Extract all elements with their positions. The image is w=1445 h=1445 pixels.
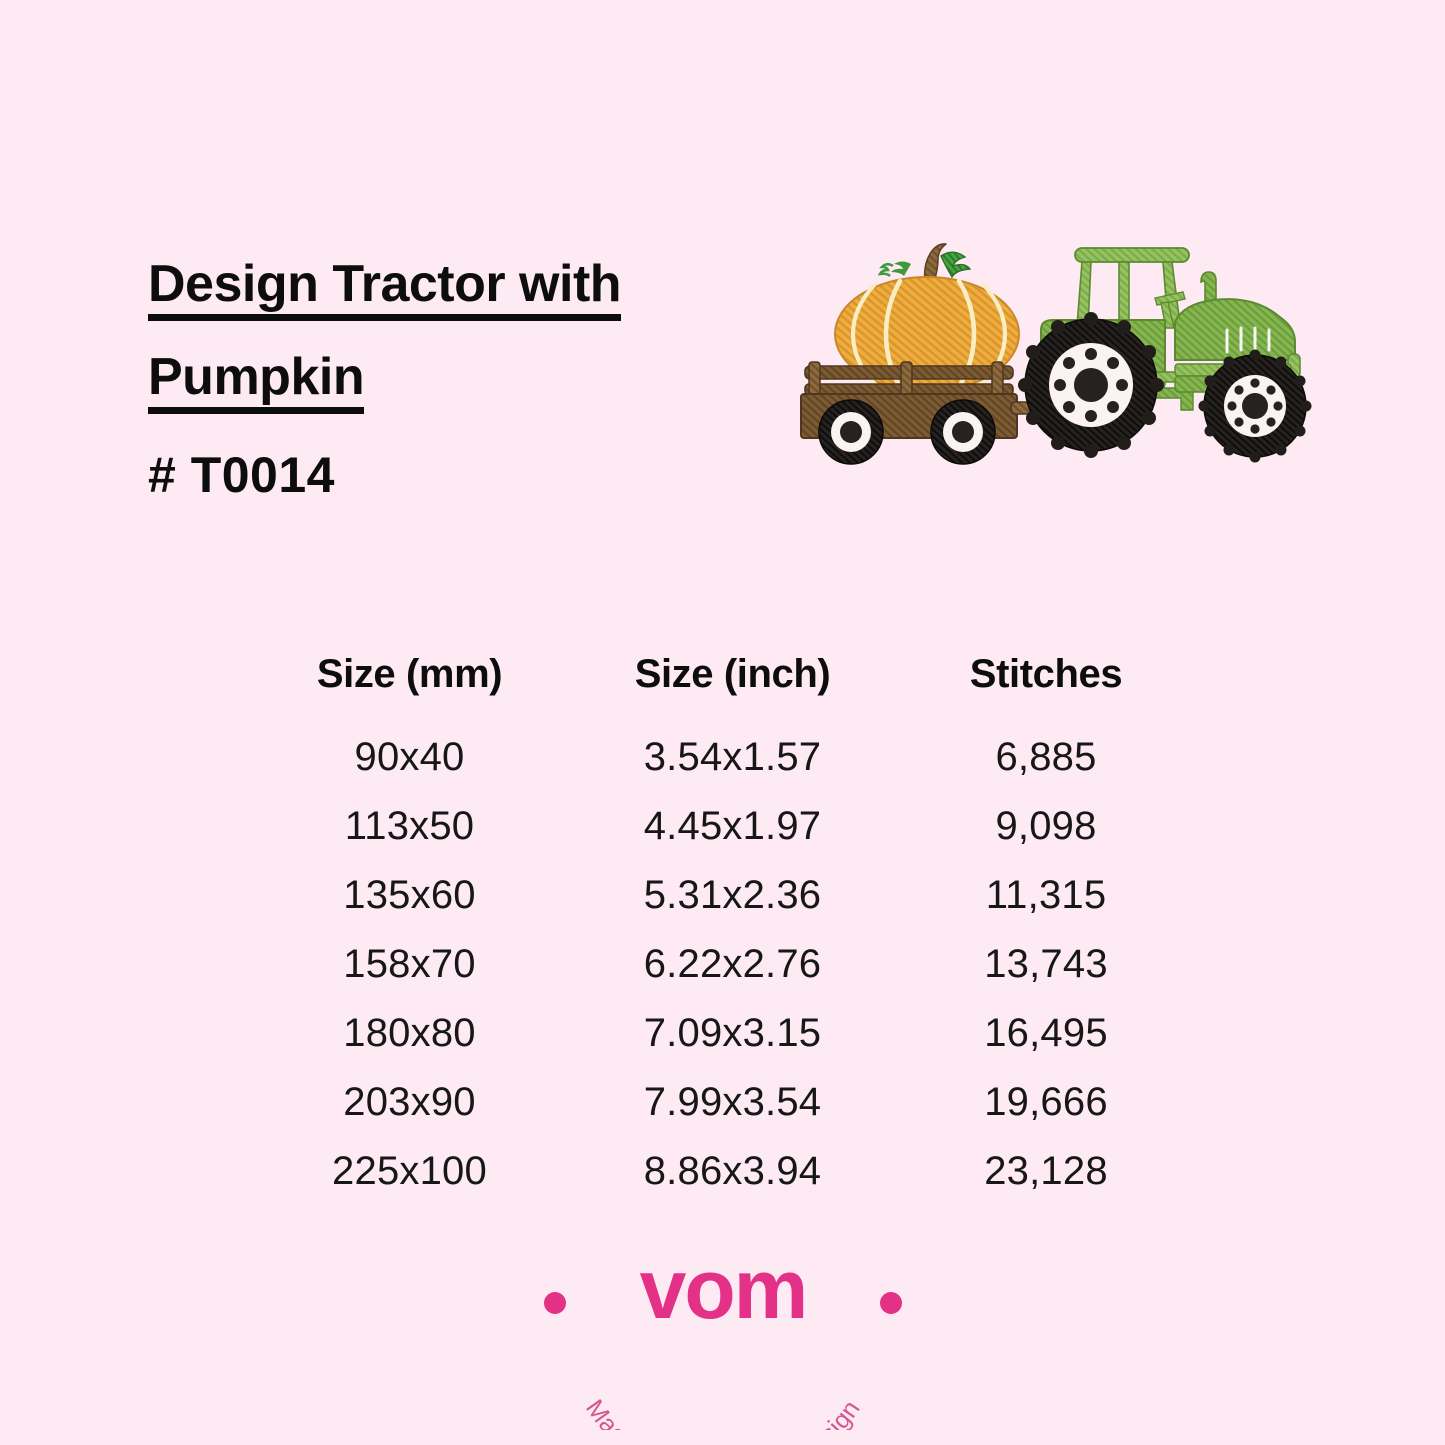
table-header-row: Size (mm) Size (inch) Stitches — [248, 652, 1198, 723]
table-row: 113x50 4.45x1.97 9,098 — [248, 792, 1198, 861]
cell-size-inch: 6.22x2.76 — [571, 930, 894, 999]
page-title-line-1-text: Design Tractor with — [148, 258, 621, 321]
page-title-line-2-text: Pumpkin — [148, 351, 364, 414]
cell-size-mm: 158x70 — [248, 930, 571, 999]
logo-tagline: Machine Embroidery Design — [580, 1395, 866, 1430]
cell-stitches: 19,666 — [894, 1068, 1198, 1137]
pumpkin-wagon-group — [801, 244, 1055, 464]
table-row: 158x70 6.22x2.76 13,743 — [248, 930, 1198, 999]
cell-size-inch: 7.99x3.54 — [571, 1068, 894, 1137]
cell-size-mm: 203x90 — [248, 1068, 571, 1137]
cell-stitches: 9,098 — [894, 792, 1198, 861]
cell-stitches: 11,315 — [894, 861, 1198, 930]
table-row: 225x100 8.86x3.94 23,128 — [248, 1137, 1198, 1206]
column-header-size-inch: Size (inch) — [571, 652, 894, 723]
wagon-wheel-rear — [931, 400, 995, 464]
cell-size-mm: 90x40 — [248, 723, 571, 792]
page-title-line-2: Pumpkin — [148, 331, 768, 424]
design-info-card: Design Tractor with Pumpkin # T0014 — [0, 0, 1445, 1445]
design-code: # T0014 — [148, 446, 768, 504]
size-stitches-table: Size (mm) Size (inch) Stitches 90x40 3.5… — [248, 652, 1198, 1206]
cell-size-inch: 8.86x3.94 — [571, 1137, 894, 1206]
logo-dot-left — [544, 1292, 566, 1314]
cell-stitches: 16,495 — [894, 999, 1198, 1068]
column-header-size-mm: Size (mm) — [248, 652, 571, 723]
cell-size-inch: 4.45x1.97 — [571, 792, 894, 861]
cell-size-mm: 180x80 — [248, 999, 571, 1068]
cell-stitches: 6,885 — [894, 723, 1198, 792]
size-table-wrap: Size (mm) Size (inch) Stitches 90x40 3.5… — [248, 652, 1198, 1206]
cell-size-mm: 225x100 — [248, 1137, 571, 1206]
table-row: 90x40 3.54x1.57 6,885 — [248, 723, 1198, 792]
tractor-group — [1018, 248, 1312, 463]
page-title-line-1: Design Tractor with — [148, 238, 768, 331]
title-block: Design Tractor with Pumpkin # T0014 — [148, 238, 768, 504]
cell-size-mm: 113x50 — [248, 792, 571, 861]
column-header-stitches: Stitches — [894, 652, 1198, 723]
cell-size-inch: 5.31x2.36 — [571, 861, 894, 930]
cell-stitches: 13,743 — [894, 930, 1198, 999]
table-row: 203x90 7.99x3.54 19,666 — [248, 1068, 1198, 1137]
logo-wordmark: vom — [639, 1242, 806, 1336]
cell-size-inch: 7.09x3.15 — [571, 999, 894, 1068]
cell-stitches: 23,128 — [894, 1137, 1198, 1206]
tractor-with-pumpkin-illustration — [783, 226, 1323, 478]
table-row: 180x80 7.09x3.15 16,495 — [248, 999, 1198, 1068]
cell-size-inch: 3.54x1.57 — [571, 723, 894, 792]
logo-dot-right — [880, 1292, 902, 1314]
table-row: 135x60 5.31x2.36 11,315 — [248, 861, 1198, 930]
wagon-wheel-front — [819, 400, 883, 464]
cell-size-mm: 135x60 — [248, 861, 571, 930]
brand-logo: vom Machine Embroidery Design — [0, 1240, 1445, 1430]
